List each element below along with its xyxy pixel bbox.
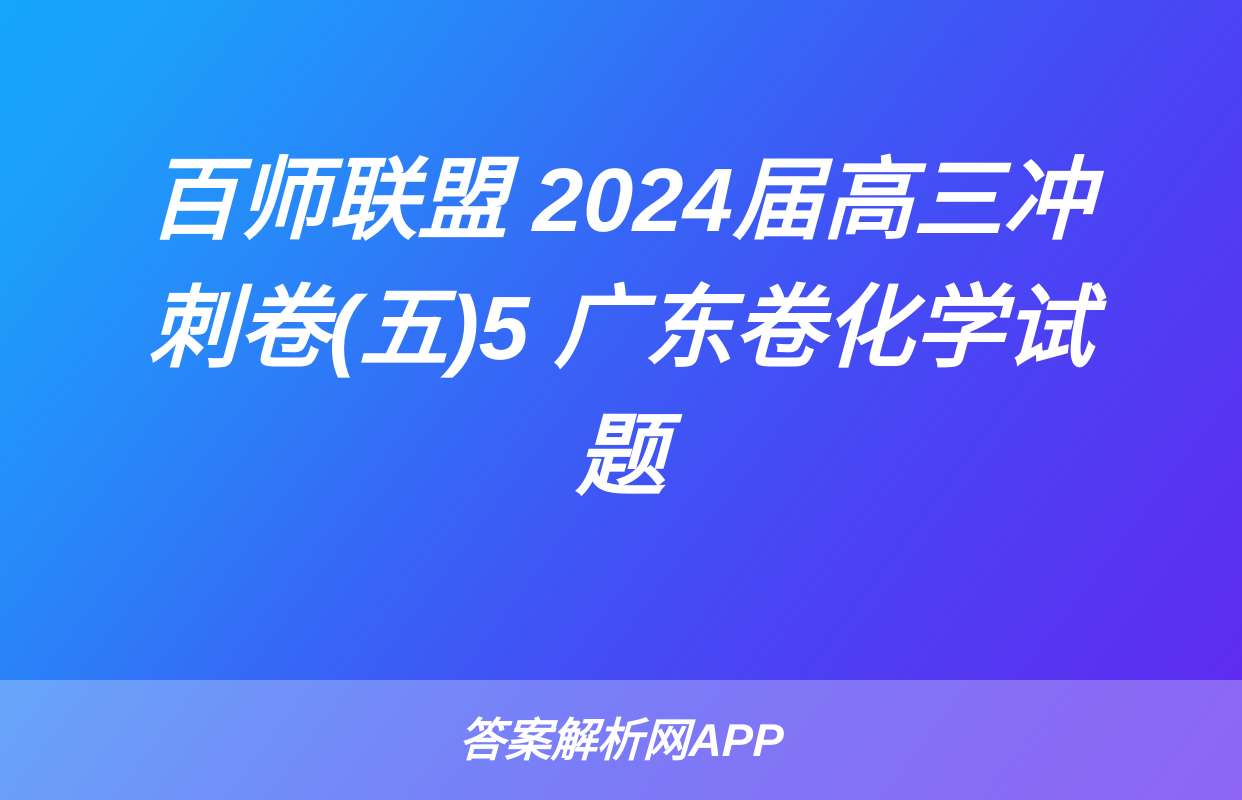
title-line-3: 题	[575, 393, 667, 521]
poster-canvas: 百师联盟 2024届高三冲 刺卷(五)5 广东卷化学试 题 答案解析网APP	[0, 0, 1242, 800]
footer-band: 答案解析网APP	[0, 680, 1242, 800]
poster-title-block: 百师联盟 2024届高三冲 刺卷(五)5 广东卷化学试 题	[0, 0, 1242, 680]
title-line-1: 百师联盟 2024届高三冲	[147, 137, 1094, 265]
title-line-2: 刺卷(五)5 广东卷化学试	[147, 265, 1094, 393]
app-watermark-label: 答案解析网APP	[458, 715, 784, 765]
